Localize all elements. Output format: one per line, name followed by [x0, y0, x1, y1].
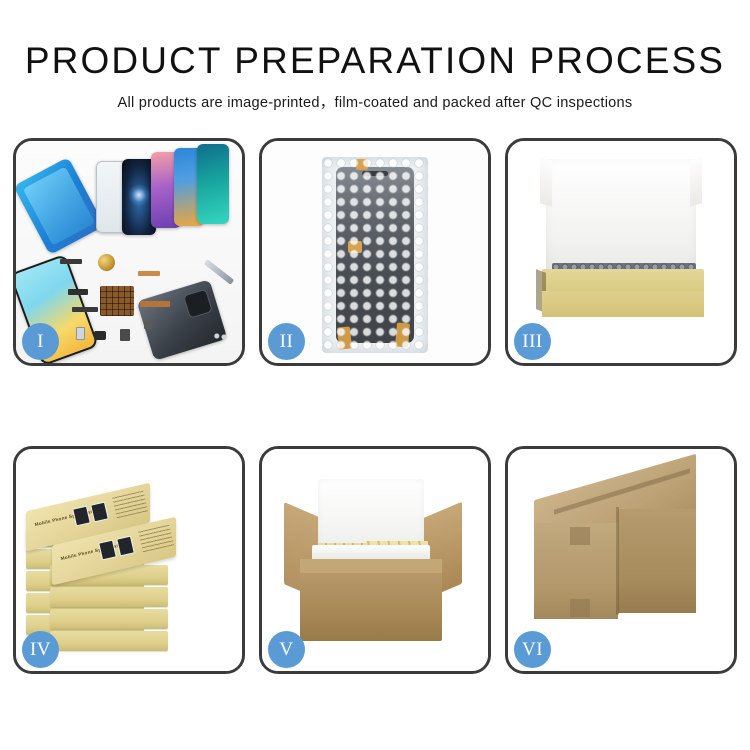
small-part-icon	[76, 327, 85, 340]
process-step-panel-5[interactable]: V	[259, 446, 491, 674]
flex-cable-icon	[72, 307, 98, 312]
small-part-icon	[94, 331, 106, 340]
phone-teal-icon	[197, 144, 229, 224]
step-badge-4: IV	[22, 631, 59, 668]
page-title: PRODUCT PREPARATION PROCESS	[0, 40, 750, 82]
stacked-box	[50, 609, 168, 629]
carton-flap-tab	[570, 599, 590, 617]
flex-cable-icon	[138, 271, 160, 276]
carton-right-face	[618, 509, 696, 613]
bubble-wrap-overlay	[322, 157, 428, 353]
chip-grid-component-icon	[100, 286, 134, 316]
small-part-icon	[68, 289, 88, 295]
carton-flap-tab	[570, 527, 590, 545]
page-subtitle: All products are image-printed，film-coat…	[0, 91, 750, 112]
process-step-panel-1[interactable]: I	[13, 138, 245, 366]
process-step-panel-6[interactable]: VI	[505, 446, 737, 674]
process-step-grid: I II III	[13, 138, 737, 674]
process-step-panel-2[interactable]: II	[259, 138, 491, 366]
small-part-icon	[120, 329, 130, 341]
stacked-box	[50, 587, 168, 607]
step-badge-2: II	[268, 323, 305, 360]
screws-icon	[212, 331, 228, 341]
process-step-panel-3[interactable]: III	[505, 138, 737, 366]
header: PRODUCT PREPARATION PROCESS All products…	[0, 0, 750, 112]
flex-cable-icon	[140, 301, 170, 307]
shipping-carton-open	[300, 569, 442, 641]
flex-cable-icon	[60, 259, 82, 264]
product-preparation-infographic: PRODUCT PREPARATION PROCESS All products…	[0, 0, 750, 750]
box-stack: Mobile Phone Spare Parts Mobile Phone Sp…	[22, 463, 236, 659]
phone-back-shell-icon	[137, 279, 228, 361]
carton-corner-edge	[616, 507, 619, 615]
process-step-panel-4[interactable]: Mobile Phone Spare Parts Mobile Phone Sp…	[13, 446, 245, 674]
foam-lid	[546, 159, 696, 275]
step-badge-1: I	[22, 323, 59, 360]
step-badge-6: VI	[514, 631, 551, 668]
step-badge-5: V	[268, 631, 305, 668]
kraft-box-front	[542, 291, 704, 317]
stacked-box	[50, 631, 168, 651]
coil-component-icon	[98, 254, 115, 271]
small-part-icon	[144, 321, 152, 329]
phone-blue-icon	[16, 157, 105, 255]
step-badge-3: III	[514, 323, 551, 360]
